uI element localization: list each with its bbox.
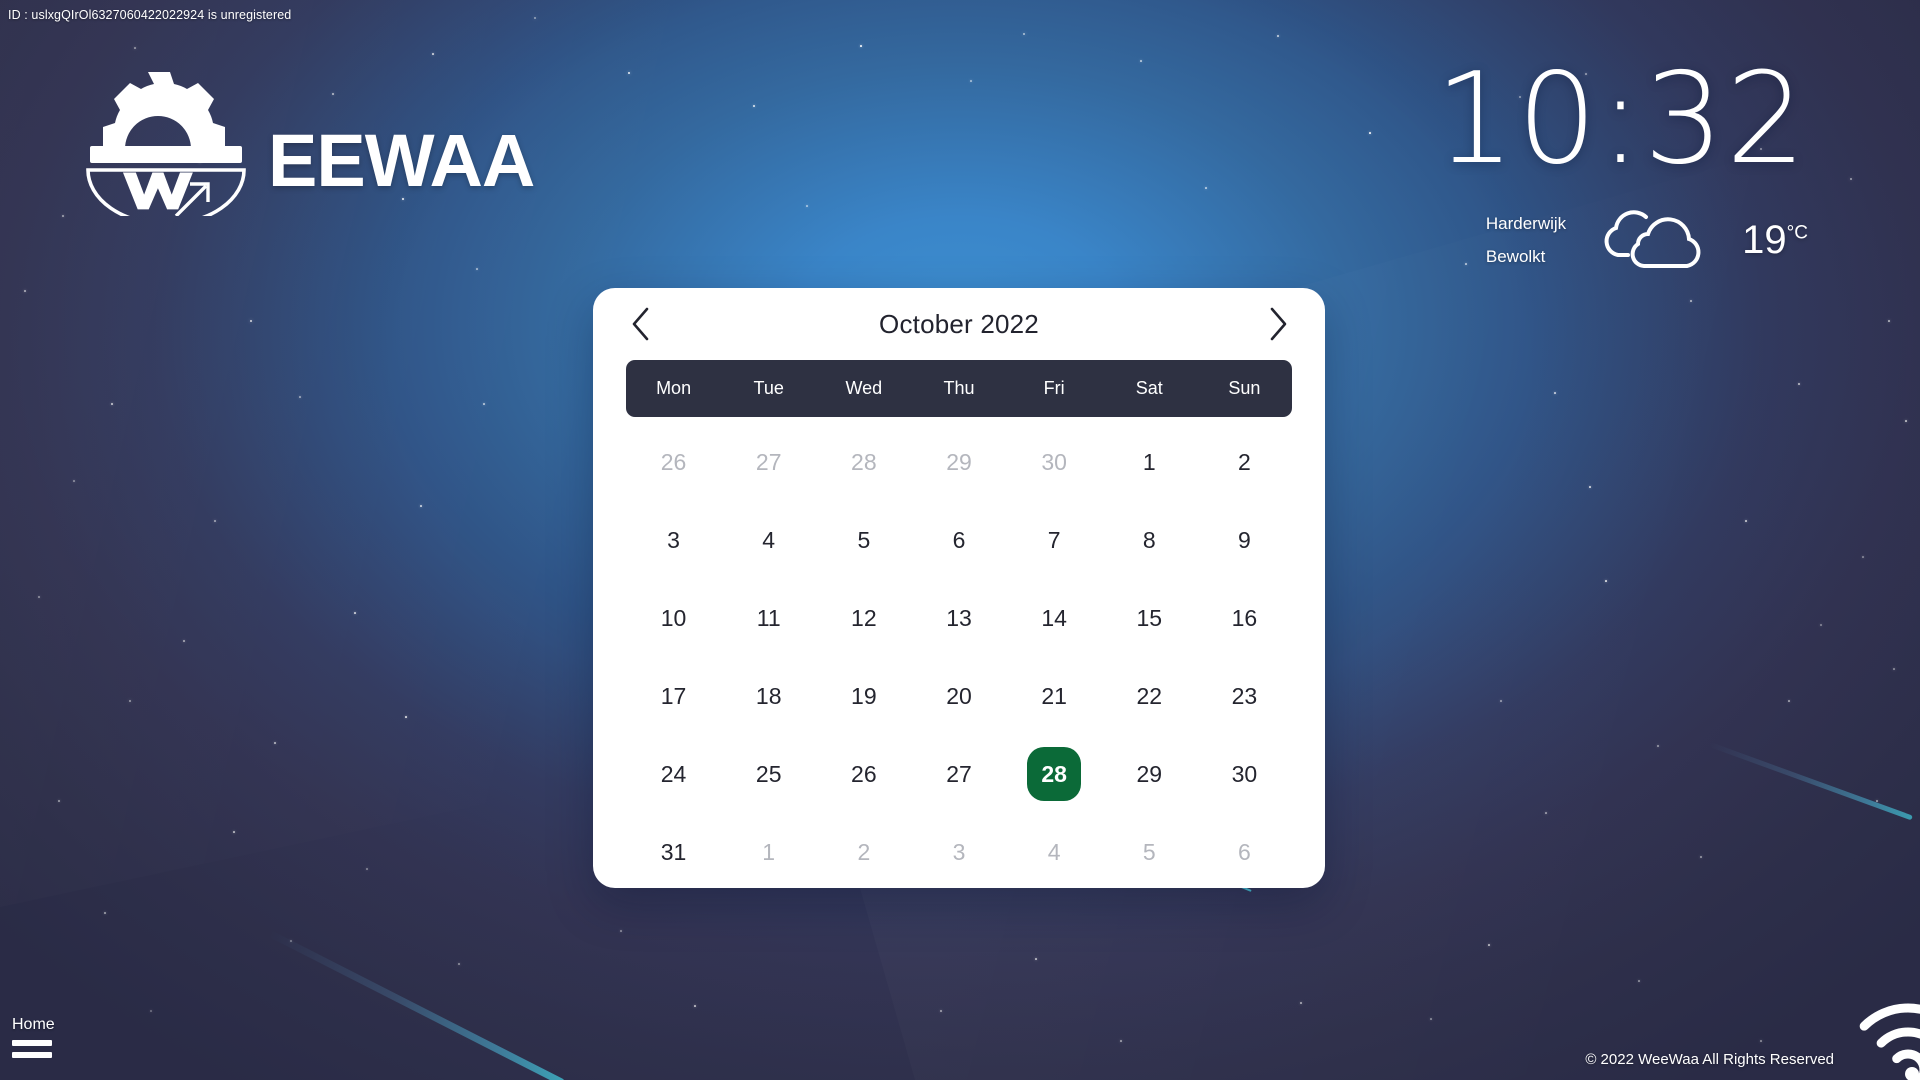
star [1545, 812, 1547, 814]
star [1488, 944, 1490, 946]
calendar-days-grid: 2627282930123456789101112131415161718192… [619, 423, 1299, 891]
calendar-day-cell: 13 [911, 579, 1006, 657]
calendar-day-cell: 28 [816, 423, 911, 501]
calendar-day[interactable]: 17 [647, 669, 701, 723]
star [458, 963, 460, 965]
calendar-prev-month-button[interactable] [619, 303, 661, 345]
star [129, 700, 131, 702]
calendar-day[interactable]: 10 [647, 591, 701, 645]
desktop-background: ID : uslxgQIrOl6327060422022924 is unreg… [0, 0, 1920, 1080]
star [1120, 1040, 1122, 1042]
calendar-day-cell: 9 [1197, 501, 1292, 579]
star [1690, 300, 1692, 302]
calendar-day[interactable]: 18 [742, 669, 796, 723]
gear-bowl-w-arrow-logo-icon [72, 58, 262, 216]
home-menu-label: Home [12, 1016, 55, 1034]
star [1277, 35, 1279, 37]
chevron-left-icon [629, 306, 651, 342]
weather-widget: Harderwijk Bewolkt 19°C [1435, 200, 1808, 280]
calendar-day[interactable]: 2 [837, 825, 891, 879]
star [58, 800, 60, 802]
calendar-day-cell: 30 [1007, 423, 1102, 501]
calendar-day-cell: 15 [1102, 579, 1197, 657]
calendar-day[interactable]: 6 [932, 513, 986, 567]
star [1850, 178, 1852, 180]
calendar-day-cell: 6 [1197, 813, 1292, 891]
calendar-day[interactable]: 2 [1217, 435, 1271, 489]
star [366, 868, 368, 870]
shooting-star [1709, 742, 1913, 820]
calendar-day[interactable]: 11 [742, 591, 796, 645]
weather-location-block: Harderwijk Bewolkt [1486, 207, 1566, 273]
calendar-widget: October 2022 MonTueWedThuFriSatSun 26272… [593, 288, 1325, 888]
calendar-day-cell: 2 [816, 813, 911, 891]
weather-city: Harderwijk [1486, 207, 1566, 240]
star [1788, 700, 1790, 702]
calendar-day[interactable]: 3 [932, 825, 986, 879]
calendar-weekday-sat: Sat [1102, 378, 1197, 399]
calendar-day[interactable]: 16 [1217, 591, 1271, 645]
star [483, 403, 485, 405]
brand-logo: EEWAA [72, 58, 534, 216]
star [1023, 33, 1025, 35]
calendar-weekday-thu: Thu [911, 378, 1006, 399]
calendar-day-cell: 31 [626, 813, 721, 891]
calendar-day-cell: 28 [1007, 735, 1102, 813]
star [233, 831, 235, 833]
star [38, 596, 40, 598]
calendar-day[interactable]: 26 [837, 747, 891, 801]
star [354, 612, 356, 614]
star [1893, 668, 1895, 670]
star [1760, 1040, 1762, 1042]
calendar-day-cell: 5 [1102, 813, 1197, 891]
star [274, 742, 276, 744]
star [1300, 1002, 1302, 1004]
star [214, 520, 216, 522]
star [694, 1005, 696, 1007]
calendar-day-cell: 4 [1007, 813, 1102, 891]
calendar-day-cell: 17 [626, 657, 721, 735]
home-menu-button[interactable]: Home [12, 1016, 55, 1058]
star [1605, 580, 1607, 582]
calendar-day-cell: 23 [1197, 657, 1292, 735]
star [250, 320, 252, 322]
star [1035, 958, 1037, 960]
weather-temperature: 19°C [1742, 218, 1808, 263]
star [1369, 132, 1371, 134]
calendar-day[interactable]: 15 [1122, 591, 1176, 645]
clock-weather-widget: 10:32 Harderwijk Bewolkt 19°C [1435, 56, 1808, 280]
temperature-value: 19 [1742, 218, 1787, 262]
star [1140, 60, 1142, 62]
calendar-weekday-header: MonTueWedThuFriSatSun [626, 360, 1292, 417]
calendar-day-cell: 29 [1102, 735, 1197, 813]
star [628, 72, 630, 74]
calendar-day-cell: 10 [626, 579, 721, 657]
star [534, 17, 536, 19]
star [1500, 700, 1502, 702]
calendar-day[interactable]: 31 [647, 825, 701, 879]
calendar-day-cell: 1 [1102, 423, 1197, 501]
cloudy-icon [1600, 200, 1708, 274]
calendar-day-cell: 26 [626, 423, 721, 501]
star [1638, 980, 1640, 982]
calendar-day[interactable]: 5 [1122, 825, 1176, 879]
calendar-day-cell: 29 [911, 423, 1006, 501]
calendar-day-cell: 20 [911, 657, 1006, 735]
hamburger-menu-icon [12, 1040, 55, 1058]
weather-condition: Bewolkt [1486, 240, 1566, 273]
calendar-day-cell: 3 [626, 501, 721, 579]
star [620, 930, 622, 932]
star [1798, 383, 1800, 385]
calendar-day[interactable]: 5 [837, 513, 891, 567]
calendar-day[interactable]: 4 [742, 513, 796, 567]
calendar-day[interactable]: 24 [647, 747, 701, 801]
calendar-day-cell: 11 [721, 579, 816, 657]
star [290, 940, 292, 942]
calendar-day[interactable]: 6 [1217, 825, 1271, 879]
calendar-day[interactable]: 12 [837, 591, 891, 645]
calendar-day[interactable]: 27 [742, 435, 796, 489]
star [299, 396, 301, 398]
star [1430, 1018, 1432, 1020]
calendar-day[interactable]: 13 [932, 591, 986, 645]
calendar-day-cell: 2 [1197, 423, 1292, 501]
star [104, 912, 106, 914]
wifi-icon [1828, 990, 1920, 1080]
temperature-unit: °C [1787, 222, 1808, 243]
calendar-weekday-wed: Wed [816, 378, 911, 399]
star [1554, 392, 1556, 394]
calendar-day-cell: 21 [1007, 657, 1102, 735]
calendar-day-cell: 26 [816, 735, 911, 813]
chevron-right-icon [1267, 306, 1289, 342]
calendar-day[interactable]: 27 [932, 747, 986, 801]
star [940, 1010, 942, 1012]
star [405, 716, 407, 718]
calendar-day[interactable]: 8 [1122, 513, 1176, 567]
star [62, 215, 64, 217]
shooting-star-trail [1709, 742, 1913, 820]
calendar-day-cell: 19 [816, 657, 911, 735]
calendar-day[interactable]: 29 [1122, 747, 1176, 801]
calendar-day-cell: 30 [1197, 735, 1292, 813]
calendar-day-cell: 24 [626, 735, 721, 813]
calendar-day-cell: 16 [1197, 579, 1292, 657]
calendar-day[interactable]: 20 [932, 669, 986, 723]
calendar-day[interactable]: 22 [1122, 669, 1176, 723]
star [134, 47, 136, 49]
calendar-day[interactable]: 30 [1027, 435, 1081, 489]
star [476, 268, 478, 270]
calendar-weekday-tue: Tue [721, 378, 816, 399]
star [1820, 624, 1822, 626]
calendar-day-cell: 6 [911, 501, 1006, 579]
calendar-weekday-mon: Mon [626, 378, 721, 399]
star [970, 80, 972, 82]
calendar-day[interactable]: 1 [742, 825, 796, 879]
calendar-day[interactable]: 26 [647, 435, 701, 489]
shooting-star-trail [268, 930, 565, 1080]
calendar-weekday-fri: Fri [1007, 378, 1102, 399]
star [753, 105, 755, 107]
calendar-day[interactable]: 9 [1217, 513, 1271, 567]
calendar-day[interactable]: 3 [647, 513, 701, 567]
calendar-day[interactable]: 4 [1027, 825, 1081, 879]
calendar-day[interactable]: 7 [1027, 513, 1081, 567]
calendar-day-cell: 25 [721, 735, 816, 813]
calendar-day-selected[interactable]: 28 [1027, 747, 1081, 801]
star [1862, 556, 1864, 558]
star [432, 53, 434, 55]
star [806, 205, 808, 207]
star [860, 45, 862, 47]
calendar-day[interactable]: 25 [742, 747, 796, 801]
calendar-day-cell: 5 [816, 501, 911, 579]
calendar-day[interactable]: 28 [837, 435, 891, 489]
shooting-star [268, 930, 565, 1080]
calendar-day-cell: 8 [1102, 501, 1197, 579]
brand-name: EEWAA [268, 124, 534, 198]
calendar-day-cell: 22 [1102, 657, 1197, 735]
calendar-day[interactable]: 21 [1027, 669, 1081, 723]
calendar-day-cell: 18 [721, 657, 816, 735]
star [1745, 520, 1747, 522]
calendar-day[interactable]: 30 [1217, 747, 1271, 801]
calendar-day-cell: 12 [816, 579, 911, 657]
calendar-day-cell: 1 [721, 813, 816, 891]
star [1205, 187, 1207, 189]
unregistered-notice: ID : uslxgQIrOl6327060422022924 is unreg… [8, 8, 291, 22]
star [1700, 856, 1702, 858]
star [183, 640, 185, 642]
star [111, 403, 113, 405]
calendar-day[interactable]: 1 [1122, 435, 1176, 489]
clock-time: 10:32 [1435, 56, 1808, 182]
star [1657, 745, 1659, 747]
calendar-month-title: October 2022 [879, 309, 1039, 340]
calendar-day[interactable]: 23 [1217, 669, 1271, 723]
calendar-header: October 2022 [619, 288, 1299, 360]
star [150, 1010, 152, 1012]
calendar-day[interactable]: 14 [1027, 591, 1081, 645]
copyright-text: © 2022 WeeWaa All Rights Reserved [1585, 1051, 1834, 1068]
calendar-day-cell: 14 [1007, 579, 1102, 657]
star [1876, 800, 1878, 802]
star [73, 480, 75, 482]
calendar-day[interactable]: 19 [837, 669, 891, 723]
star [1589, 486, 1591, 488]
calendar-day-cell: 27 [721, 423, 816, 501]
calendar-weekday-sun: Sun [1197, 378, 1292, 399]
calendar-day[interactable]: 29 [932, 435, 986, 489]
calendar-day-cell: 4 [721, 501, 816, 579]
star [1888, 320, 1890, 322]
calendar-day-cell: 7 [1007, 501, 1102, 579]
star [420, 505, 422, 507]
calendar-day-cell: 3 [911, 813, 1006, 891]
calendar-next-month-button[interactable] [1257, 303, 1299, 345]
star [24, 290, 26, 292]
star [1905, 420, 1907, 422]
calendar-day-cell: 27 [911, 735, 1006, 813]
